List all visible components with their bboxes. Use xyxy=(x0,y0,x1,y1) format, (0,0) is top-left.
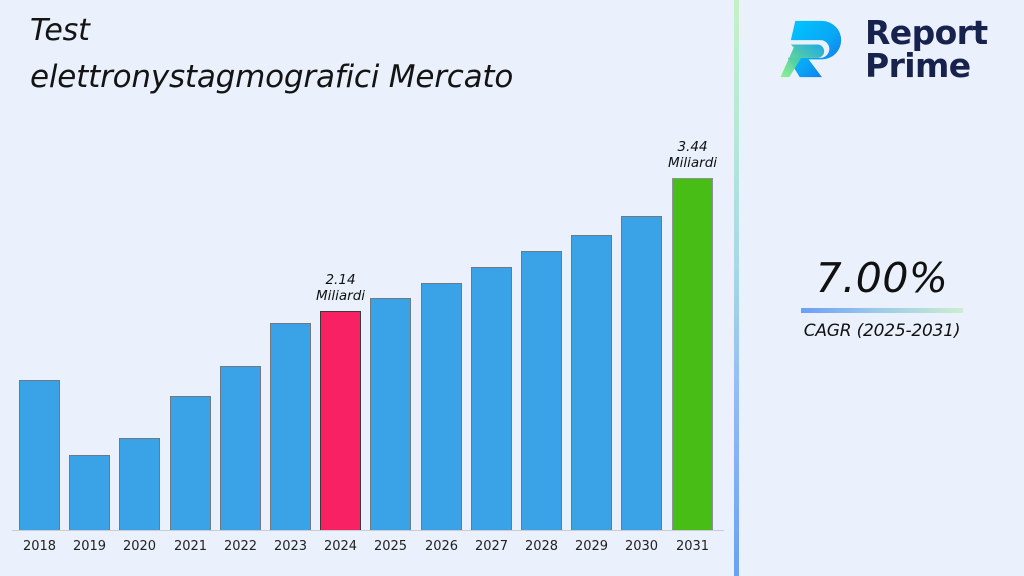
bar-2030 xyxy=(621,216,662,530)
bar-chart: 20182019202020212022202320242.14Miliardi… xyxy=(0,0,734,576)
bar-2022 xyxy=(220,366,261,530)
bar-2025 xyxy=(370,298,411,530)
cagr-label: CAGR (2025-2031) xyxy=(753,319,1011,343)
bar-2021 xyxy=(170,396,211,530)
bar-2028 xyxy=(521,251,562,530)
x-axis-line xyxy=(12,530,724,531)
bar-2027 xyxy=(471,267,512,530)
x-tick-2031: 2031 xyxy=(663,538,723,556)
cagr-value: 7.00% xyxy=(753,252,1011,304)
cagr-divider xyxy=(801,308,963,313)
cagr-block: 7.00% CAGR (2025-2031) xyxy=(753,252,1011,343)
brand-panel: Report Prime 7.00% CAGR (2025-2031) xyxy=(739,0,1024,576)
brand-name: Report Prime xyxy=(865,16,988,82)
bar-2020 xyxy=(119,438,160,530)
bar-2018 xyxy=(19,380,60,530)
bar-2026 xyxy=(421,283,462,530)
brand-name-line-2: Prime xyxy=(865,46,971,85)
bar-2024 xyxy=(320,311,361,530)
bar-unit-2031: Miliardi xyxy=(645,155,741,171)
chart-panel: Test elettronystagmografici Mercato 2018… xyxy=(0,0,734,576)
bar-2031 xyxy=(672,178,713,530)
bar-value-2024: 2.14 xyxy=(293,272,389,288)
bar-callout-2031: 3.44Miliardi xyxy=(645,139,741,171)
bar-value-2031: 3.44 xyxy=(645,139,741,155)
bar-2019 xyxy=(69,455,110,530)
brand-logo: Report Prime xyxy=(779,12,988,86)
bar-2029 xyxy=(571,235,612,530)
poster-root: Test elettronystagmografici Mercato 2018… xyxy=(0,0,1024,576)
report-prime-logo-icon xyxy=(779,12,853,86)
bar-2023 xyxy=(270,323,311,530)
